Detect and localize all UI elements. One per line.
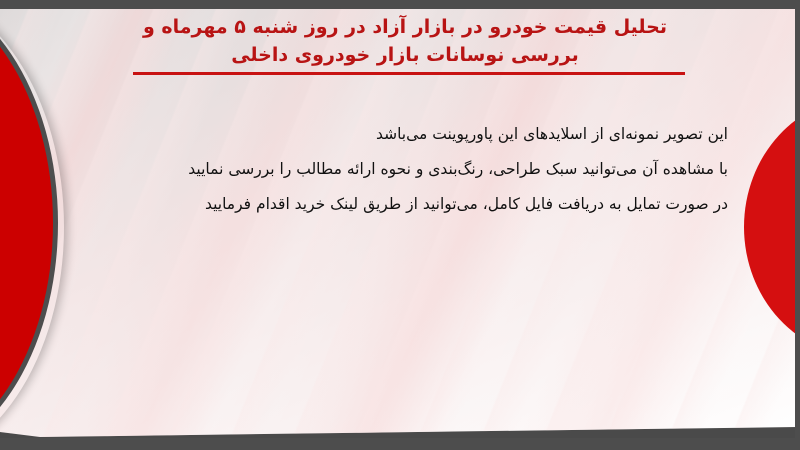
presentation-slide: تحلیل قیمت خودرو در بازار آزاد در روز شن… (0, 0, 800, 450)
slide-title: تحلیل قیمت خودرو در بازار آزاد در روز شن… (120, 14, 690, 69)
body-paragraph-3: در صورت تمایل به دریافت فایل کامل، می‌تو… (88, 187, 728, 222)
body-paragraph-1: این تصویر نمونه‌ای از اسلایدهای این پاور… (88, 117, 728, 152)
body-paragraph-2: با مشاهده آن می‌توانید سبک طراحی، رنگ‌بن… (88, 152, 728, 187)
slide-title-line-1: تحلیل قیمت خودرو در بازار آزاد در روز شن… (120, 14, 690, 42)
frame-border-bottom (0, 438, 800, 450)
slide-title-line-2: بررسی نوسانات بازار خودروی داخلی (120, 42, 690, 70)
frame-border-right (795, 0, 800, 450)
frame-border-top (0, 0, 800, 9)
title-divider-rule (133, 72, 685, 75)
slide-body-text: این تصویر نمونه‌ای از اسلایدهای این پاور… (88, 117, 728, 222)
